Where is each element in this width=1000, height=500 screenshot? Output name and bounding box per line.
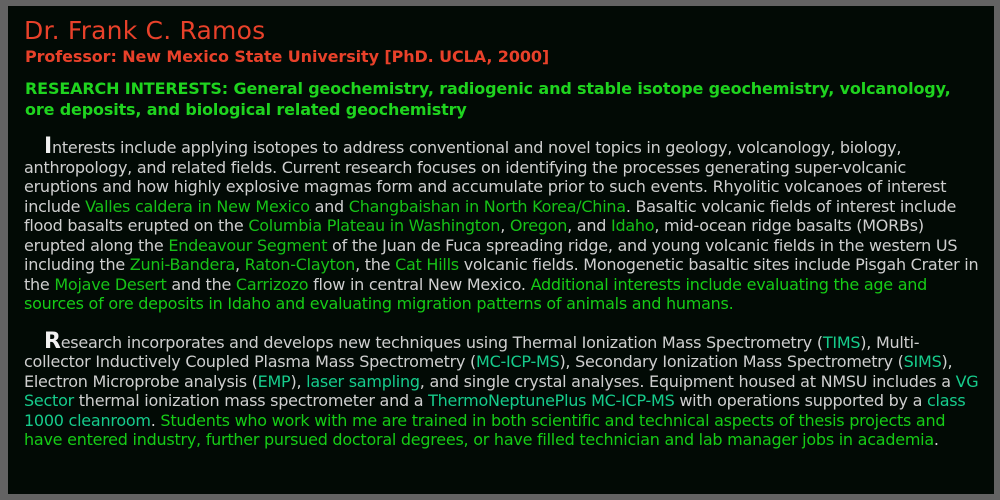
p2-text-7: thermal ionization mass spectrometer and…	[74, 391, 428, 410]
p1-text-4: ,	[500, 216, 510, 235]
p2-text-9: .	[151, 411, 161, 430]
link-endeavour-segment[interactable]: Endeavour Segment	[168, 236, 327, 255]
link-carrizozo[interactable]: Carrizozo	[236, 275, 308, 294]
p1-text-5: , and	[567, 216, 611, 235]
link-oregon[interactable]: Oregon	[510, 216, 567, 235]
link-idaho[interactable]: Idaho	[611, 216, 654, 235]
link-tims[interactable]: TIMS	[823, 333, 860, 352]
p1-text-2: and	[310, 197, 349, 216]
p1-text-11: and the	[167, 275, 236, 294]
link-changbaishan[interactable]: Changbaishan in North Korea/China	[349, 197, 626, 216]
dropcap-i: I	[44, 134, 52, 159]
profile-panel: Dr. Frank C. Ramos Professor: New Mexico…	[8, 6, 994, 494]
paragraph-research: Research incorporates and develops new t…	[24, 333, 980, 450]
link-zuni-bandera[interactable]: Zuni-Bandera	[130, 255, 235, 274]
p2-text-6: , and single crystal analyses. Equipment…	[420, 372, 956, 391]
link-columbia-plateau[interactable]: Columbia Plateau in Washington	[248, 216, 500, 235]
affiliation-line: Professor: New Mexico State University […	[25, 46, 980, 67]
link-cat-hills[interactable]: Cat Hills	[395, 255, 459, 274]
research-interests-heading: RESEARCH INTERESTS: General geochemistry…	[25, 78, 980, 120]
highlight-students: Students who work with me are trained in…	[24, 411, 945, 450]
p1-text-9: , the	[355, 255, 395, 274]
link-laser-sampling[interactable]: laser sampling	[306, 372, 420, 391]
p2-text-8: with operations supported by a	[675, 391, 927, 410]
p2-text-10: .	[934, 430, 939, 449]
link-raton-clayton[interactable]: Raton-Clayton	[245, 255, 355, 274]
link-mc-icp-ms[interactable]: MC-ICP-MS	[476, 352, 559, 371]
link-valles-caldera[interactable]: Valles caldera in New Mexico	[85, 197, 310, 216]
p1-text-8: ,	[235, 255, 245, 274]
dropcap-r: R	[44, 329, 61, 354]
paragraph-interests: Interests include applying isotopes to a…	[24, 138, 980, 314]
p2-text-1: esearch incorporates and develops new te…	[61, 333, 823, 352]
link-mojave-desert[interactable]: Mojave Desert	[54, 275, 166, 294]
link-thermo-neptune-plus[interactable]: ThermoNeptunePlus MC-ICP-MS	[428, 391, 674, 410]
page-root: Dr. Frank C. Ramos Professor: New Mexico…	[0, 0, 1000, 500]
p2-text-3: ), Secondary Ionization Mass Spectrometr…	[559, 352, 903, 371]
link-sims[interactable]: SIMS	[904, 352, 942, 371]
page-title: Dr. Frank C. Ramos	[24, 16, 980, 46]
p2-text-5: ),	[290, 372, 306, 391]
link-emp[interactable]: EMP	[258, 372, 291, 391]
p1-text-12: flow in central New Mexico.	[308, 275, 530, 294]
